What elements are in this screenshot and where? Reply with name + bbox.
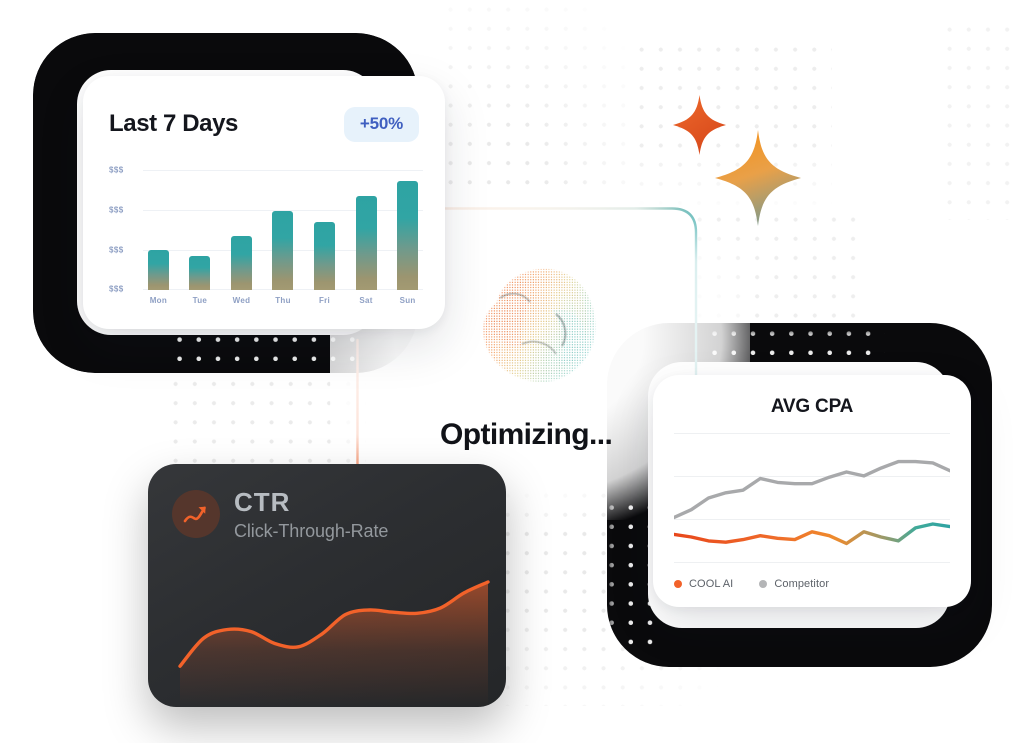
x-tick-label: Fri xyxy=(309,296,340,312)
bar-column xyxy=(143,168,174,290)
ctr-title-block: CTR Click-Through-Rate xyxy=(234,488,388,542)
growth-badge: +50% xyxy=(344,107,419,142)
legend-item[interactable]: COOL AI xyxy=(674,578,733,590)
last-7-days-x-axis: MonTueWedThuFriSatSun xyxy=(143,296,423,312)
x-tick-label: Wed xyxy=(226,296,257,312)
ctr-subtitle: Click-Through-Rate xyxy=(234,521,388,542)
ai-particle-orb-icon xyxy=(452,240,622,410)
avg-cpa-chart xyxy=(674,433,950,563)
legend-dot-icon xyxy=(759,580,767,588)
x-tick-label: Tue xyxy=(185,296,216,312)
legend-dot-icon xyxy=(674,580,682,588)
last-7-days-plot-area xyxy=(143,168,423,290)
sparkle-large-icon xyxy=(713,128,803,228)
y-tick-label: $$$ xyxy=(109,206,124,215)
last-7-days-y-axis: $$$ $$$ $$$ $$$ xyxy=(109,168,139,290)
bar xyxy=(148,250,169,290)
bar xyxy=(189,256,210,290)
ctr-card[interactable]: CTR Click-Through-Rate xyxy=(148,464,506,707)
bar-column xyxy=(185,168,216,290)
legend-label: Competitor xyxy=(774,578,829,590)
ctr-trend-chart xyxy=(148,559,506,707)
ctr-header: CTR Click-Through-Rate xyxy=(172,488,388,542)
last-7-days-chart: $$$ $$$ $$$ $$$ MonTueWedThuFriSatSun xyxy=(109,168,423,311)
bar xyxy=(272,211,293,290)
avg-cpa-card[interactable]: AVG CPA xyxy=(653,375,971,607)
last-7-days-header: Last 7 Days +50% xyxy=(109,102,419,146)
y-tick-label: $$$ xyxy=(109,166,124,175)
bar-group xyxy=(143,168,423,290)
last-7-days-title: Last 7 Days xyxy=(109,110,238,138)
y-tick-label: $$$ xyxy=(109,285,124,294)
bar-column xyxy=(226,168,257,290)
y-tick-label: $$$ xyxy=(109,246,124,255)
bar xyxy=(356,196,377,290)
bar-column xyxy=(351,168,382,290)
avg-cpa-legend: COOL AICompetitor xyxy=(674,578,829,590)
status-text: Optimizing... xyxy=(440,418,612,452)
legend-item[interactable]: Competitor xyxy=(759,578,829,590)
bar-column xyxy=(268,168,299,290)
bar xyxy=(314,222,335,290)
hero-illustration: Last 7 Days +50% $$$ $$$ $$$ $$$ MonTueW… xyxy=(0,0,1019,743)
dot-pattern-top-right xyxy=(441,0,631,190)
x-tick-label: Sun xyxy=(392,296,423,312)
legend-label: COOL AI xyxy=(689,578,733,590)
x-tick-label: Mon xyxy=(143,296,174,312)
x-tick-label: Sat xyxy=(351,296,382,312)
bar-column xyxy=(309,168,340,290)
last-7-days-card[interactable]: Last 7 Days +50% $$$ $$$ $$$ $$$ MonTueW… xyxy=(83,76,445,329)
dot-pattern-far-right xyxy=(940,20,1019,220)
avg-cpa-series xyxy=(674,433,950,563)
x-tick-label: Thu xyxy=(268,296,299,312)
avg-cpa-title: AVG CPA xyxy=(653,396,971,418)
trending-up-icon xyxy=(172,490,220,538)
bar xyxy=(231,236,252,290)
bar-column xyxy=(392,168,423,290)
ctr-title: CTR xyxy=(234,488,388,517)
bar xyxy=(397,181,418,290)
